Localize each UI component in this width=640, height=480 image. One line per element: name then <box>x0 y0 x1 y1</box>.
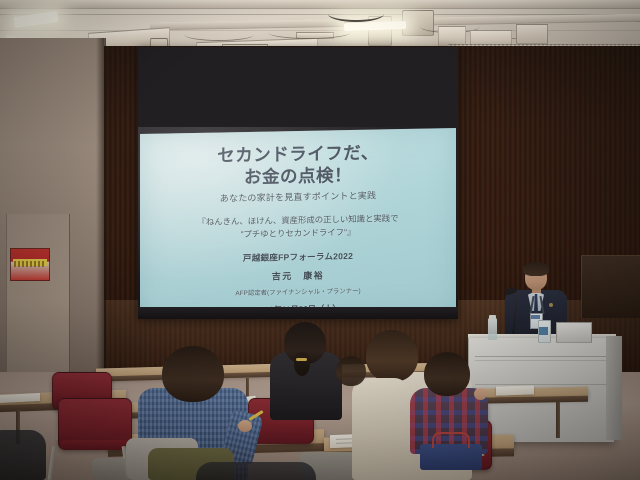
slide-subtitle: あなたの家計を見直すポイントと実践 <box>220 189 376 205</box>
attendee-head <box>336 356 366 386</box>
laptop <box>556 322 592 343</box>
lapel-pin-icon <box>549 303 553 307</box>
slide-quote-line1: 『ねんきん、ほけん、資産形成の正しい知識と実践で <box>198 212 399 228</box>
slide-title-line2: お金の点検！ <box>244 164 352 188</box>
attendee-head <box>366 330 418 382</box>
speaker-hair <box>523 262 549 276</box>
attendee-head <box>424 352 470 396</box>
attendee-torso-foreground <box>196 462 316 480</box>
mask-notice-poster <box>10 248 50 281</box>
slide-forum-name: 戸越銀座FPフォーラム2022 <box>243 250 353 264</box>
attendee-hand <box>238 420 252 432</box>
wall-niche <box>581 255 640 318</box>
handout-paper <box>496 385 534 395</box>
slide-presenter-name: 吉元 康裕 <box>272 269 325 283</box>
presentation-slide: セカンドライフだ、 お金の点検！ あなたの家計を見直すポイントと実践 『ねんきん… <box>140 128 456 318</box>
slide-title-line1: セカンドライフだ、 <box>217 141 378 166</box>
projector-screen: セカンドライフだ、 お金の点検！ あなたの家計を見直すポイントと実践 『ねんきん… <box>138 47 458 319</box>
ponytail <box>294 352 310 376</box>
slide-quote-line2: "プチゆとりセカンドライフ"』 <box>241 226 356 240</box>
slide-credential: AFP認定者(ファイナンシャル・プランナー) <box>235 286 360 297</box>
attendee-hand <box>474 388 487 400</box>
attendee-torso <box>0 430 46 480</box>
water-bottle <box>488 318 497 340</box>
attendee-shoulder <box>352 378 410 480</box>
attendee-head <box>162 346 224 402</box>
seminar-room-photo: セカンドライフだ、 お金の点検！ あなたの家計を見直すポイントと実践 『ねんきん… <box>0 0 640 480</box>
